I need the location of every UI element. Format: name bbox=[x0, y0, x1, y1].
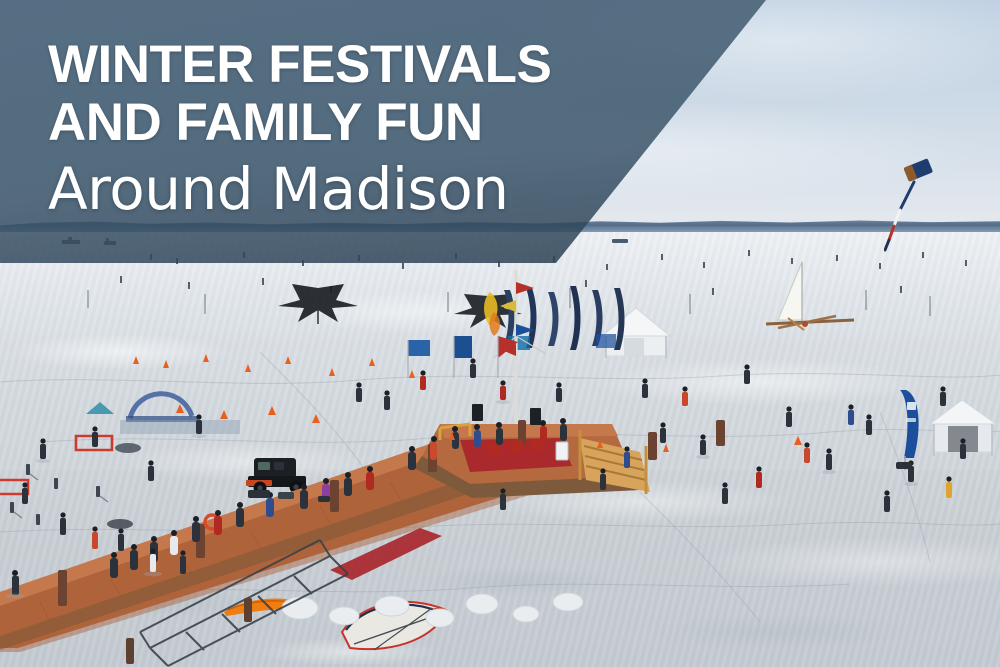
kite-gear bbox=[474, 290, 514, 340]
ice-gear bbox=[0, 396, 1000, 636]
iceboat bbox=[758, 258, 868, 344]
headline-line-1: WINTER FESTIVALS bbox=[48, 36, 688, 94]
kite-icon bbox=[884, 152, 960, 260]
hero-banner: WINTER FESTIVALS AND FAMILY FUN Around M… bbox=[0, 0, 1000, 667]
headline-line-3: Around Madison bbox=[48, 156, 688, 222]
headline-line-2: AND FAMILY FUN bbox=[48, 94, 688, 152]
headline-block: WINTER FESTIVALS AND FAMILY FUN Around M… bbox=[48, 36, 688, 222]
